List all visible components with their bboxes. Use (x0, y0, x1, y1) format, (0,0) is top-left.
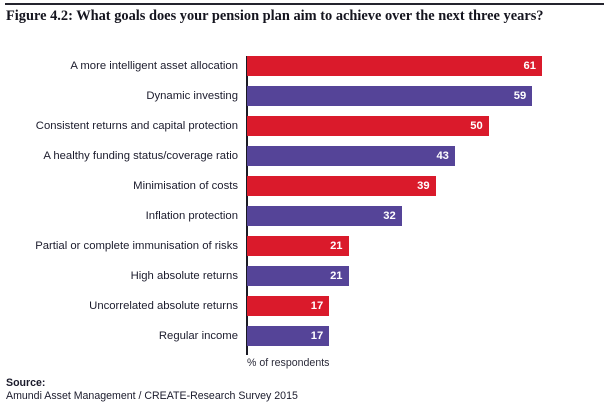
bar: 17 (247, 296, 329, 316)
bar: 32 (247, 206, 402, 226)
top-divider-rule (5, 3, 604, 5)
bar-category-label: High absolute returns (0, 268, 238, 284)
bar-value-label: 59 (514, 86, 526, 106)
bar: 50 (247, 116, 489, 136)
bar-row: Dynamic investing59 (0, 86, 609, 116)
bar-category-label: Partial or complete immunisation of risk… (0, 238, 238, 254)
bar-value-label: 39 (417, 176, 429, 196)
figure-title: Figure 4.2: What goals does your pension… (6, 7, 598, 26)
bar: 61 (247, 56, 542, 76)
bar-rows: A more intelligent asset allocation61Dyn… (0, 56, 609, 356)
bar-category-label: Uncorrelated absolute returns (0, 298, 238, 314)
figure-container: Figure 4.2: What goals does your pension… (0, 0, 609, 408)
bar: 59 (247, 86, 532, 106)
bar-value-label: 43 (436, 146, 448, 166)
bar-row: Minimisation of costs39 (0, 176, 609, 206)
bar-row: A more intelligent asset allocation61 (0, 56, 609, 86)
bar-chart: A more intelligent asset allocation61Dyn… (0, 56, 609, 356)
bar-value-label: 61 (523, 56, 535, 76)
bar-category-label: Dynamic investing (0, 88, 238, 104)
bar-category-label: A more intelligent asset allocation (0, 58, 238, 74)
bar: 39 (247, 176, 436, 196)
bar: 21 (247, 236, 349, 256)
bar-value-label: 17 (311, 326, 323, 346)
bar-row: Uncorrelated absolute returns17 (0, 296, 609, 326)
bar-row: Inflation protection32 (0, 206, 609, 236)
bar: 21 (247, 266, 349, 286)
bar-category-label: Minimisation of costs (0, 178, 238, 194)
bar: 43 (247, 146, 455, 166)
source-label: Source: (6, 377, 298, 390)
bar-row: A healthy funding status/coverage ratio4… (0, 146, 609, 176)
bar-category-label: Inflation protection (0, 208, 238, 224)
bar-value-label: 32 (383, 206, 395, 226)
bar-value-label: 17 (311, 296, 323, 316)
x-axis-caption: % of respondents (247, 357, 329, 369)
bar-category-label: A healthy funding status/coverage ratio (0, 148, 238, 164)
bar-row: Partial or complete immunisation of risk… (0, 236, 609, 266)
bar-row: Consistent returns and capital protectio… (0, 116, 609, 146)
bar-row: High absolute returns21 (0, 266, 609, 296)
bar: 17 (247, 326, 329, 346)
bar-value-label: 21 (330, 236, 342, 256)
source-text: Amundi Asset Management / CREATE-Researc… (6, 390, 298, 403)
source-block: Source: Amundi Asset Management / CREATE… (6, 377, 298, 404)
bar-category-label: Consistent returns and capital protectio… (0, 118, 238, 134)
bar-category-label: Regular income (0, 328, 238, 344)
bar-row: Regular income17 (0, 326, 609, 356)
bar-value-label: 21 (330, 266, 342, 286)
bar-value-label: 50 (470, 116, 482, 136)
